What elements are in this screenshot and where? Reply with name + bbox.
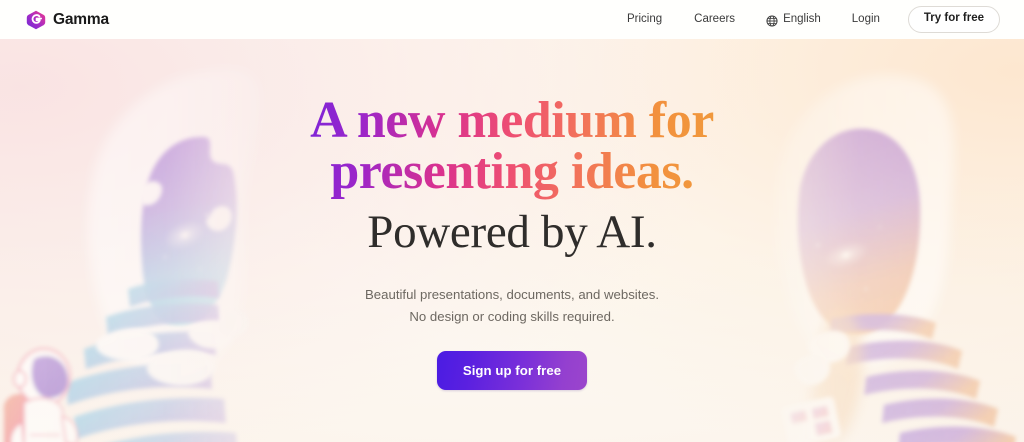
language-selector[interactable]: English: [751, 14, 836, 26]
primary-nav: Pricing Careers English Login Try for fr…: [611, 6, 1000, 33]
nav-link-pricing[interactable]: Pricing: [611, 14, 678, 26]
site-header: Gamma Pricing Careers English Login: [0, 0, 1024, 39]
brand-name: Gamma: [53, 12, 109, 28]
globe-icon: [766, 14, 778, 26]
hero-subtitle: Beautiful presentations, documents, and …: [365, 284, 659, 327]
gamma-logo-icon: [26, 10, 46, 30]
sign-up-for-free-button[interactable]: Sign up for free: [437, 351, 587, 390]
subtitle-line-2: No design or coding skills required.: [365, 306, 659, 327]
page-title: A new medium for presenting ideas.: [306, 95, 718, 202]
brand-logo-link[interactable]: Gamma: [26, 10, 109, 30]
language-label: English: [783, 14, 821, 26]
hero-section: A new medium for presenting ideas. Power…: [0, 39, 1024, 442]
headline-line-2: presenting ideas.: [310, 146, 714, 197]
page-root: Gamma Pricing Careers English Login: [0, 0, 1024, 442]
headline-line-1: A new medium for: [310, 95, 714, 146]
hero-content: A new medium for presenting ideas. Power…: [0, 39, 1024, 442]
subtitle-line-1: Beautiful presentations, documents, and …: [365, 284, 659, 305]
headline-line-3: Powered by AI.: [367, 208, 657, 257]
nav-link-login[interactable]: Login: [836, 14, 896, 26]
try-for-free-button[interactable]: Try for free: [908, 6, 1000, 33]
nav-link-careers[interactable]: Careers: [678, 14, 751, 26]
